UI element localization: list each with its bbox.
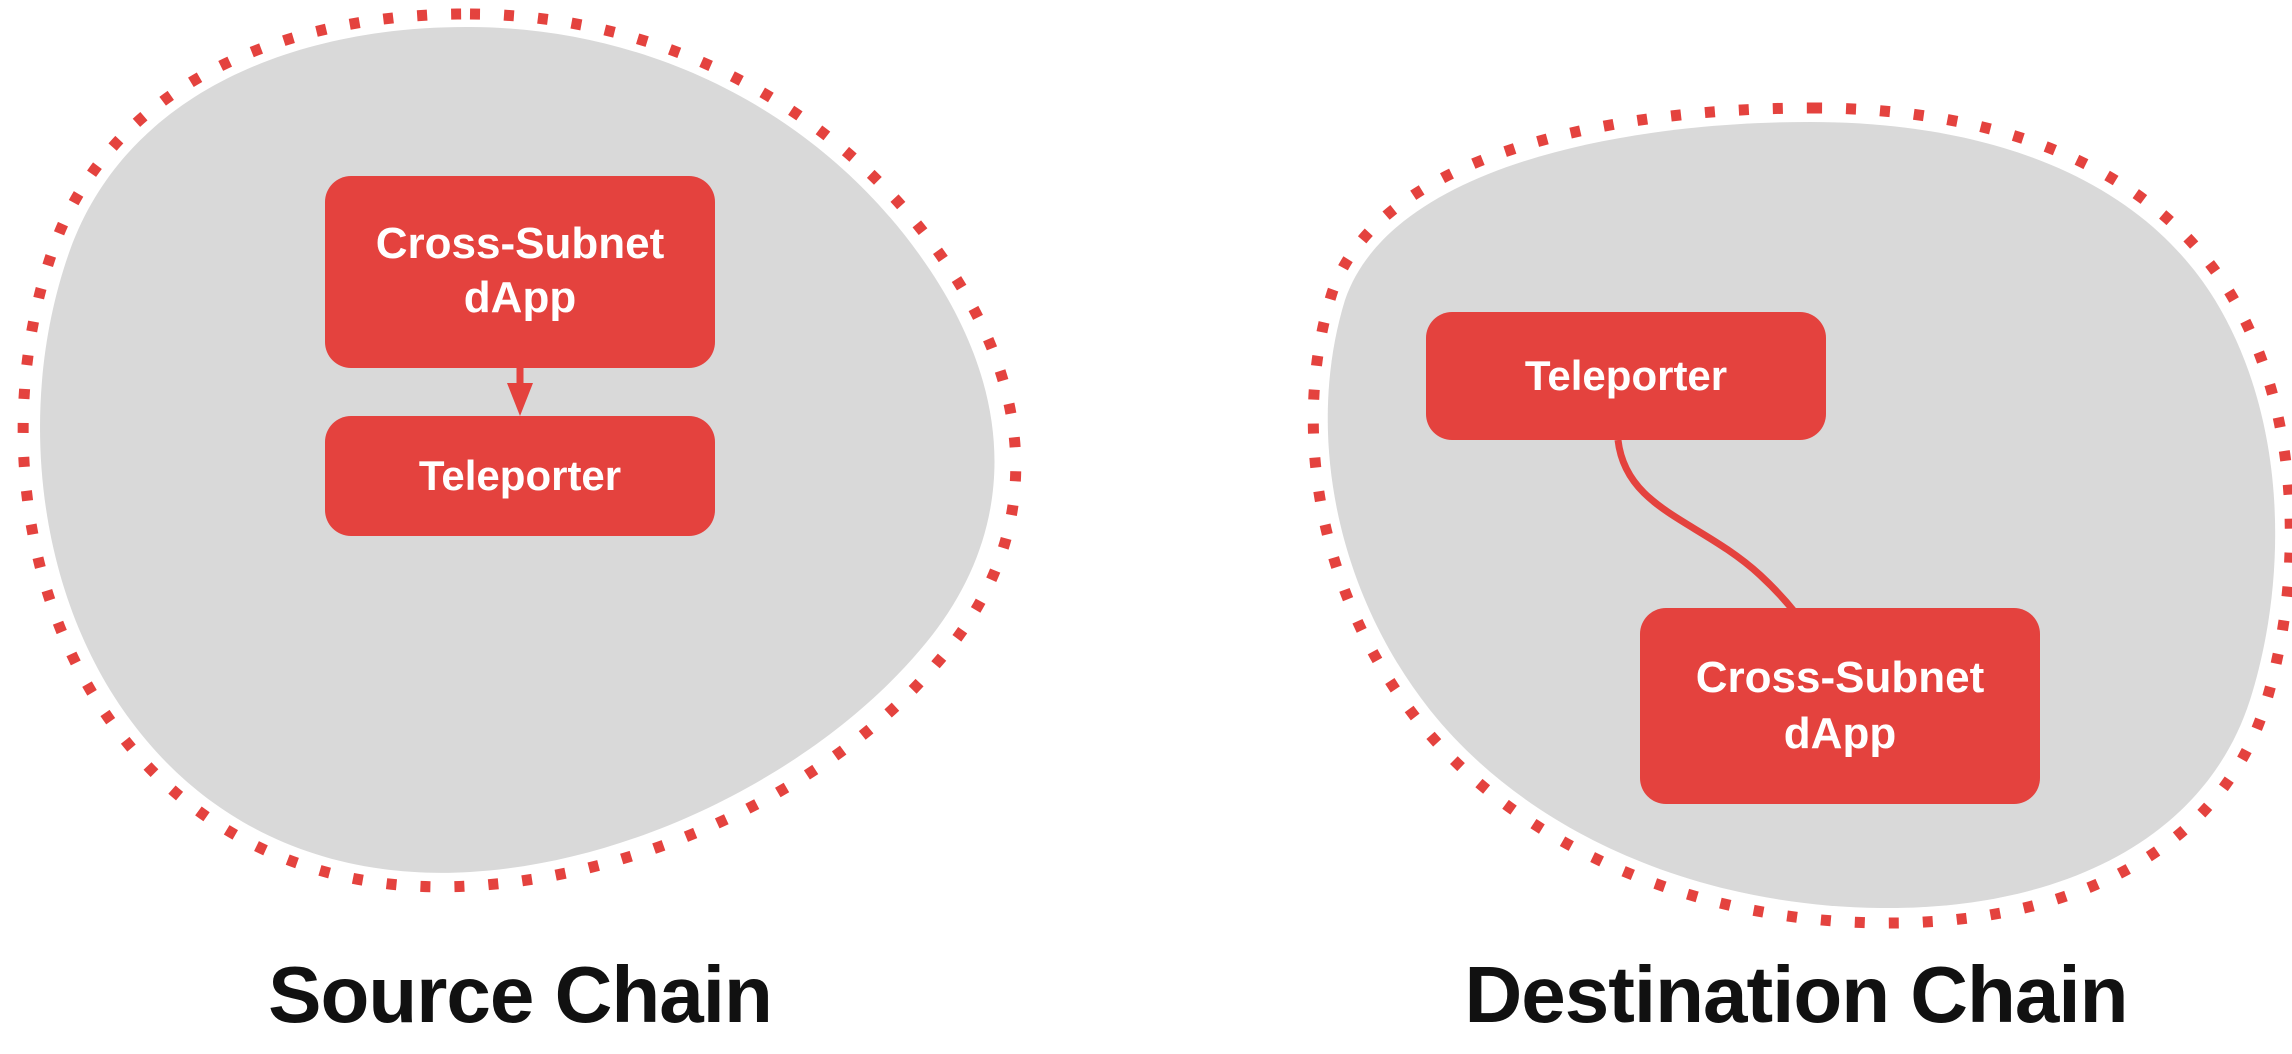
node-destination-teleporter[interactable]: Teleporter — [1426, 312, 1826, 440]
source-chain-label: Source Chain — [0, 955, 1040, 1035]
node-source-cross-subnet-dapp[interactable]: Cross-Subnet dApp — [325, 176, 715, 368]
node-destination-cross-subnet-dapp[interactable]: Cross-Subnet dApp — [1640, 608, 2040, 804]
node-destination-cross-subnet-dapp-line1: Cross-Subnet — [1696, 653, 1985, 702]
node-source-cross-subnet-dapp-shape — [325, 176, 715, 368]
destination-chain-label: Destination Chain — [1300, 955, 2292, 1035]
diagram-canvas: Cross-Subnet dApp Teleporter Teleporter — [0, 0, 2292, 1054]
node-source-teleporter-label: Teleporter — [419, 452, 621, 499]
node-destination-cross-subnet-dapp-shape — [1640, 608, 2040, 804]
node-destination-cross-subnet-dapp-line2: dApp — [1784, 709, 1896, 758]
node-destination-teleporter-label: Teleporter — [1525, 352, 1727, 399]
diagram-svg: Cross-Subnet dApp Teleporter Teleporter — [0, 0, 2292, 1054]
node-source-cross-subnet-dapp-line2: dApp — [464, 273, 576, 322]
node-source-cross-subnet-dapp-line1: Cross-Subnet — [376, 219, 665, 268]
node-source-teleporter[interactable]: Teleporter — [325, 416, 715, 536]
